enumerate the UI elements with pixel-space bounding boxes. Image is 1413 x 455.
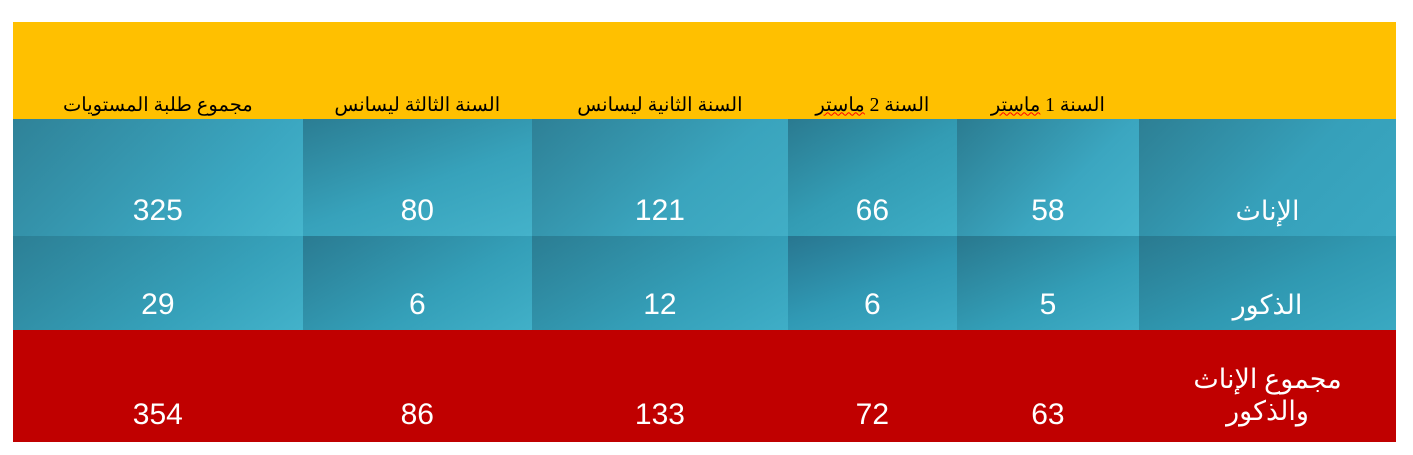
students-table-container: السنة 1 ماستر السنة 2 ماستر السنة الثاني…	[13, 22, 1396, 442]
cell-females-master-1: 58	[957, 119, 1139, 236]
row-label-grand-total: مجموع الإناث والذكور	[1139, 330, 1396, 442]
cell-females-licence-2: 121	[532, 119, 788, 236]
row-label-males: الذكور	[1139, 236, 1396, 330]
column-header-master-1: السنة 1 ماستر	[957, 22, 1139, 119]
cell-total-licence-2: 133	[532, 330, 788, 442]
cell-males-total: 29	[13, 236, 303, 330]
table-row: الإناث 58 66 121 80 325	[13, 119, 1396, 236]
row-label-grand-total-line1: مجموع الإناث	[1140, 364, 1395, 396]
row-label-grand-total-line2: والذكور	[1140, 396, 1395, 428]
cell-males-licence-2: 12	[532, 236, 788, 330]
cell-females-total: 325	[13, 119, 303, 236]
cell-total-licence-3: 86	[303, 330, 532, 442]
column-header-licence-year-2: السنة الثانية ليسانس	[532, 22, 788, 119]
cell-females-licence-3: 80	[303, 119, 532, 236]
cell-males-licence-3: 6	[303, 236, 532, 330]
header-row: السنة 1 ماستر السنة 2 ماستر السنة الثاني…	[13, 22, 1396, 119]
cell-total-all: 354	[13, 330, 303, 442]
column-header-licence-year-3: السنة الثالثة ليسانس	[303, 22, 532, 119]
cell-males-master-1: 5	[957, 236, 1139, 330]
column-header-master-1-misspelled: ماستر	[991, 95, 1040, 116]
row-label-females: الإناث	[1139, 119, 1396, 236]
column-header-master-2-misspelled: ماستر	[815, 95, 864, 116]
cell-males-master-2: 6	[788, 236, 957, 330]
header-corner-cell	[1139, 22, 1396, 119]
cell-total-master-2: 72	[788, 330, 957, 442]
table-header: السنة 1 ماستر السنة 2 ماستر السنة الثاني…	[13, 22, 1396, 119]
students-by-level-and-gender-table: السنة 1 ماستر السنة 2 ماستر السنة الثاني…	[13, 22, 1396, 442]
column-header-master-2: السنة 2 ماستر	[788, 22, 957, 119]
table-row-total: مجموع الإناث والذكور 63 72 133 86 354	[13, 330, 1396, 442]
cell-total-master-1: 63	[957, 330, 1139, 442]
column-header-master-1-text: السنة 1	[1040, 95, 1105, 116]
cell-females-master-2: 66	[788, 119, 957, 236]
table-body: الإناث 58 66 121 80 325 الذكور 5 6 12 6 …	[13, 119, 1396, 442]
table-row: الذكور 5 6 12 6 29	[13, 236, 1396, 330]
column-header-master-2-text: السنة 2	[865, 95, 930, 116]
column-header-total-levels: مجموع طلبة المستويات	[13, 22, 303, 119]
